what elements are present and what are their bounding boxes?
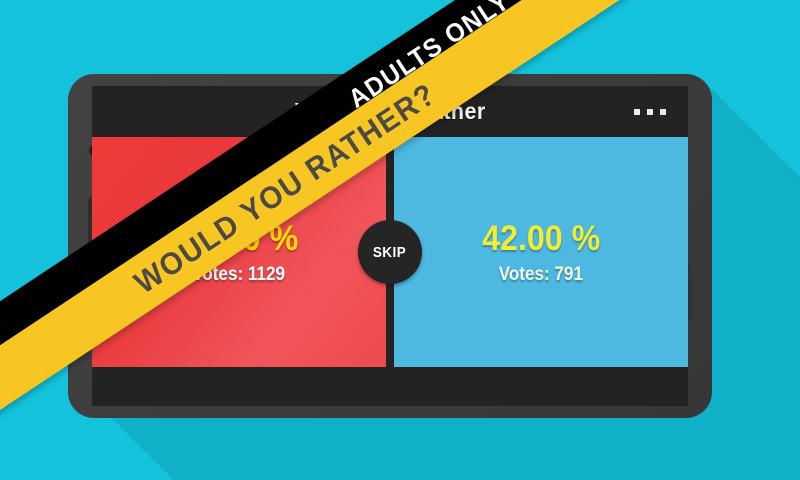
phone-device-frame: Would You Rather 59.00 % Votes: 1129 42.…	[68, 74, 712, 418]
poll-option-right[interactable]: 42.00 % Votes: 791	[394, 137, 688, 367]
screen-bottom-bar	[92, 367, 688, 406]
screenshot-stage: Would You Rather 59.00 % Votes: 1129 42.…	[0, 0, 800, 480]
poll-option-left-percent: 59.00 %	[180, 221, 298, 256]
more-options-dot-2	[647, 109, 653, 115]
more-options-dot-1	[634, 109, 640, 115]
poll-options-container: 59.00 % Votes: 1129 42.00 % Votes: 791 S…	[92, 137, 688, 367]
poll-option-left[interactable]: 59.00 % Votes: 1129	[92, 137, 386, 367]
poll-option-left-votes: Votes: 1129	[193, 265, 286, 284]
poll-option-right-percent: 42.00 %	[482, 221, 600, 256]
page-title: Would You Rather	[295, 98, 485, 125]
more-options-dot-3	[660, 109, 666, 115]
more-options-icon[interactable]	[634, 109, 666, 115]
app-title-bar: Would You Rather	[92, 86, 688, 137]
poll-option-right-votes: Votes: 791	[499, 265, 583, 284]
phone-screen: Would You Rather 59.00 % Votes: 1129 42.…	[92, 86, 688, 406]
skip-button[interactable]: SKIP	[358, 220, 422, 284]
skip-button-label: SKIP	[373, 244, 406, 261]
